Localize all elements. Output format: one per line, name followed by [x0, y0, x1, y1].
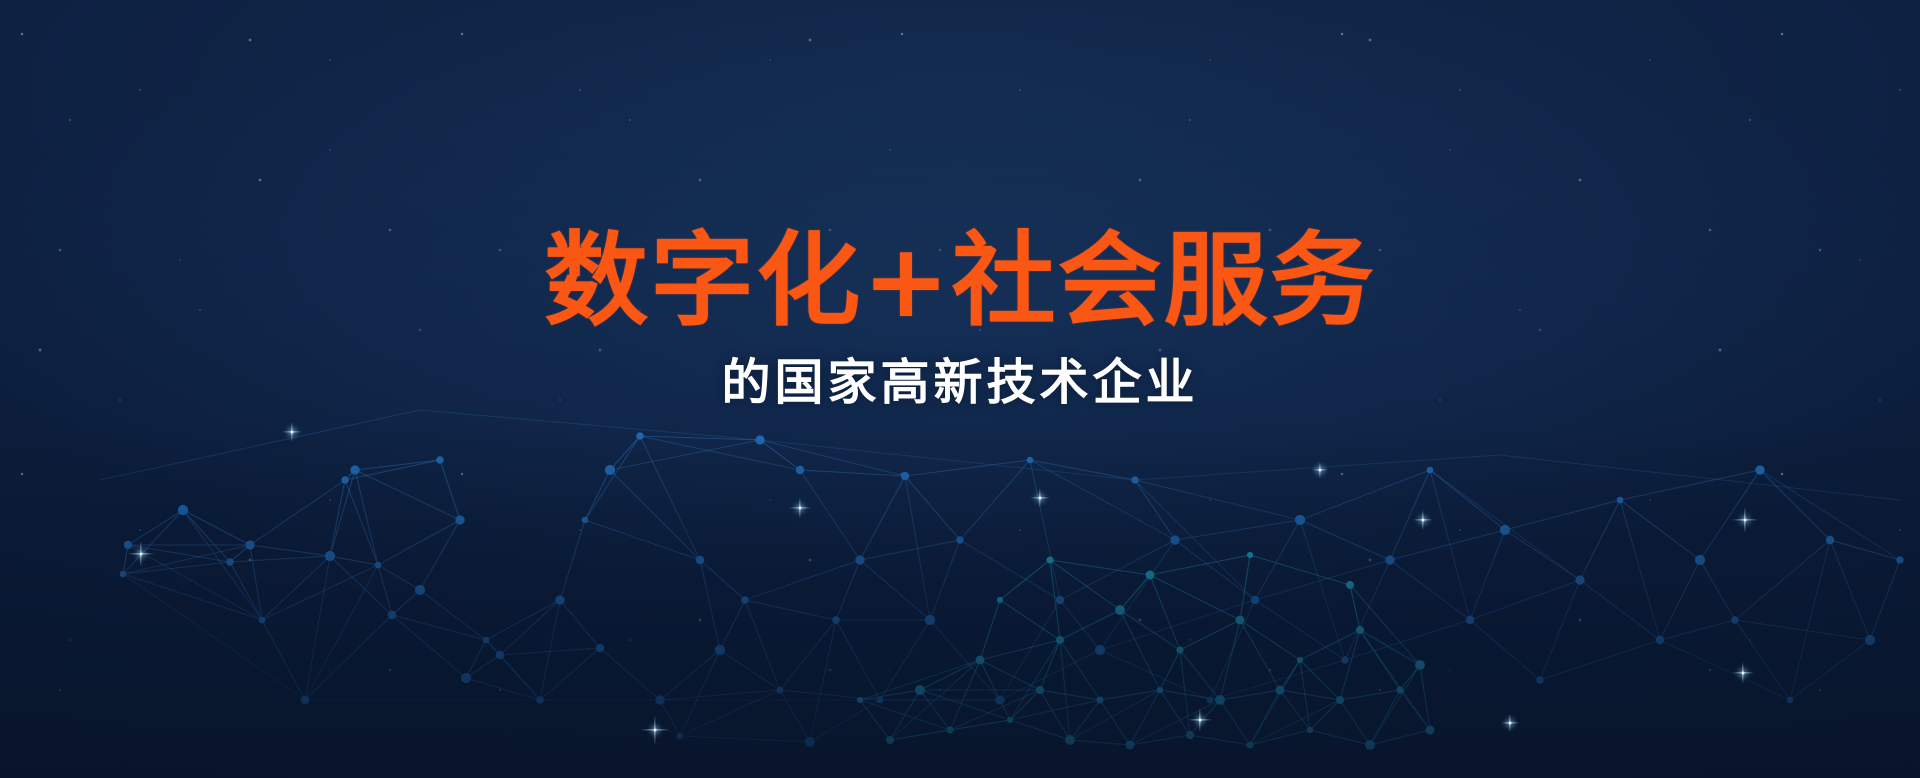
banner-headline: 数字化+社会服务 [0, 228, 1920, 335]
banner-hero: 数字化+社会服务 的国家高新技术企业 [0, 0, 1920, 778]
banner-text-block: 数字化+社会服务 的国家高新技术企业 [0, 228, 1920, 412]
banner-subtitle: 的国家高新技术企业 [0, 353, 1920, 412]
